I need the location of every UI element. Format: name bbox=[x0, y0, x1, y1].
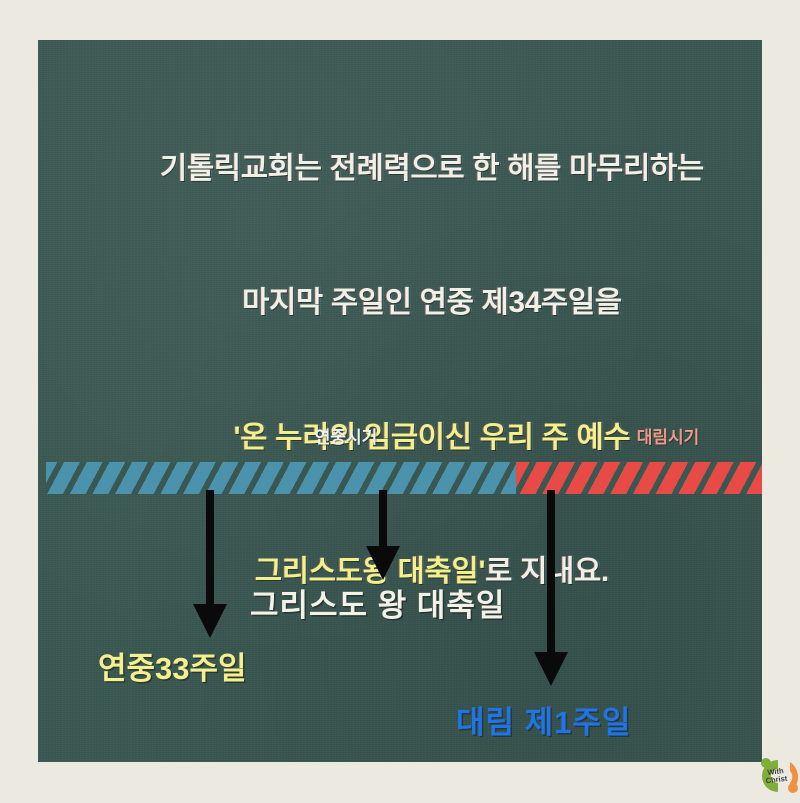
headline-line-1-text: 기톨릭교회는 전례력으로 한 해를 마무리하는 bbox=[160, 152, 704, 185]
screenshot-canvas: 기톨릭교회는 전례력으로 한 해를 마무리하는 마지막 주일인 연중 제34주일… bbox=[0, 0, 800, 800]
headline-block: 기톨릭교회는 전례력으로 한 해를 마무리하는 마지막 주일인 연중 제34주일… bbox=[38, 102, 762, 640]
marker-label-ordinary33: 연중33주일 bbox=[98, 643, 247, 688]
arrow-down-icon-advent1 bbox=[534, 490, 568, 686]
arrow-head bbox=[534, 652, 568, 686]
arrow-down-icon-ordinary33 bbox=[193, 490, 227, 638]
info-card: 기톨릭교회는 전례력으로 한 해를 마무리하는 마지막 주일인 연중 제34주일… bbox=[38, 40, 762, 762]
with-christ-logo: With Christ bbox=[752, 752, 800, 800]
liturgical-timeline-bar bbox=[46, 462, 762, 494]
marker-label-christ-the-king: 그리스도 왕 대축일 bbox=[250, 580, 505, 625]
headline-line-2-text: 마지막 주일인 연중 제34주일을 bbox=[242, 286, 622, 319]
season-caption-ordinary: 연중시기 bbox=[226, 423, 466, 448]
arrow-down-icon-christ-the-king bbox=[366, 490, 400, 580]
headline-line-2: 마지막 주일인 연중 제34주일을 bbox=[38, 236, 762, 370]
headline-line-1: 기톨릭교회는 전례력으로 한 해를 마무리하는 bbox=[38, 102, 762, 236]
arrow-head bbox=[366, 546, 400, 580]
logo-wordmark: With Christ bbox=[749, 749, 800, 802]
timeline-segment-ordinary bbox=[46, 462, 516, 494]
logo-wordmark-line-2: Christ bbox=[765, 775, 787, 785]
arrow-shaft bbox=[379, 490, 387, 548]
arrow-head bbox=[193, 604, 227, 638]
season-caption-advent: 대림시기 bbox=[568, 423, 762, 448]
arrow-shaft bbox=[206, 490, 214, 606]
arrow-shaft bbox=[547, 490, 555, 654]
marker-label-advent1: 대림 제1주일 bbox=[456, 697, 631, 742]
